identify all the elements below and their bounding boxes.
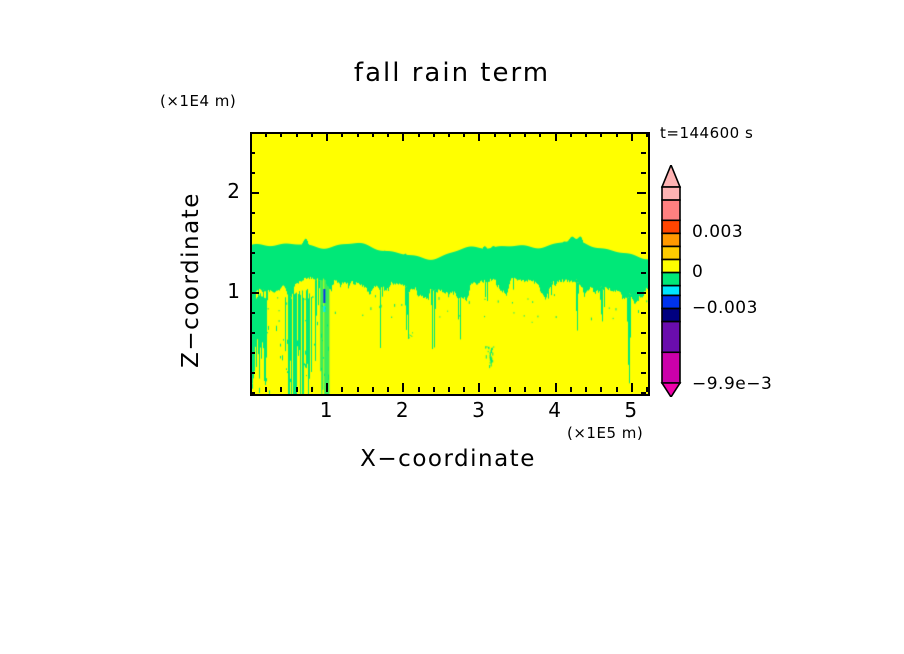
y-tick (250, 252, 255, 254)
y-tick-label: 1 (210, 279, 240, 303)
y-tick-right (641, 212, 646, 214)
x-axis-title: X−coordinate (250, 446, 646, 472)
x-tick (570, 387, 572, 392)
x-tick (585, 387, 587, 392)
x-tick-top (616, 132, 618, 137)
x-tick-label: 2 (387, 398, 417, 422)
y-tick (250, 292, 259, 294)
x-tick (463, 387, 465, 392)
x-axis-unit-label: (×1E5 m) (567, 424, 643, 442)
y-axis-unit-label: (×1E4 m) (160, 92, 236, 110)
x-tick-label: 3 (463, 398, 493, 422)
y-tick-right (637, 192, 646, 194)
x-tick (616, 387, 618, 392)
y-tick (250, 172, 255, 174)
x-tick-top (631, 132, 633, 141)
x-tick (372, 387, 374, 392)
colorbar-tick-label: −9.9e−3 (692, 374, 772, 394)
x-tick-top (387, 132, 389, 137)
x-tick-label: 4 (540, 398, 570, 422)
x-tick-top (280, 132, 282, 137)
y-tick-right (641, 312, 646, 314)
x-tick (280, 387, 282, 392)
heatmap-canvas (252, 134, 648, 394)
y-tick-right (641, 252, 646, 254)
x-tick-top (357, 132, 359, 137)
x-tick-label: 5 (616, 398, 646, 422)
x-tick-top (478, 132, 480, 141)
y-axis-title: Z−coordinate (178, 160, 204, 400)
x-tick-top (372, 132, 374, 137)
x-tick (433, 387, 435, 392)
x-tick-top (555, 132, 557, 141)
y-tick (250, 232, 255, 234)
x-tick (494, 387, 496, 392)
colorbar-tick-label: 0 (692, 262, 703, 282)
x-tick (555, 383, 557, 392)
x-tick-top (296, 132, 298, 137)
x-tick (402, 383, 404, 392)
y-tick-right (641, 332, 646, 334)
x-tick-top (463, 132, 465, 137)
colorbar (659, 165, 683, 397)
x-tick-top (646, 132, 648, 137)
y-tick-right (637, 292, 646, 294)
y-tick-right (641, 152, 646, 154)
figure-canvas: fall rain term (×1E4 m) (×1E5 m) X−coord… (0, 0, 904, 654)
x-tick-top (539, 132, 541, 137)
x-tick (296, 387, 298, 392)
x-tick (600, 387, 602, 392)
y-tick (250, 352, 255, 354)
x-tick-top (509, 132, 511, 137)
y-tick-right (641, 232, 646, 234)
x-tick-top (570, 132, 572, 137)
y-tick-right (641, 392, 646, 394)
x-tick-top (311, 132, 313, 137)
x-tick (341, 387, 343, 392)
x-tick (418, 387, 420, 392)
page-title: fall rain term (0, 58, 904, 88)
y-tick-right (641, 172, 646, 174)
y-tick-right (641, 132, 646, 134)
y-tick (250, 272, 255, 274)
timestamp-annotation: t=144600 s (660, 124, 753, 142)
x-tick-label: 1 (311, 398, 341, 422)
x-tick-top (585, 132, 587, 137)
x-tick (387, 387, 389, 392)
x-tick-top (433, 132, 435, 137)
x-tick (265, 387, 267, 392)
y-tick (250, 152, 255, 154)
x-tick (524, 387, 526, 392)
colorbar-tick-label: −0.003 (692, 298, 758, 318)
x-tick (326, 383, 328, 392)
y-tick (250, 392, 255, 394)
y-tick (250, 212, 255, 214)
x-tick (357, 387, 359, 392)
y-tick (250, 332, 255, 334)
x-tick-top (494, 132, 496, 137)
x-tick-top (326, 132, 328, 141)
x-tick (478, 383, 480, 392)
colorbar-tick-label: 0.003 (692, 222, 743, 242)
x-tick-top (341, 132, 343, 137)
x-tick (539, 387, 541, 392)
y-tick (250, 192, 259, 194)
x-tick-top (402, 132, 404, 141)
x-tick-top (524, 132, 526, 137)
x-tick-top (600, 132, 602, 137)
y-tick-right (641, 352, 646, 354)
y-tick-right (641, 372, 646, 374)
x-tick-top (418, 132, 420, 137)
y-tick-label: 2 (210, 179, 240, 203)
x-tick-top (265, 132, 267, 137)
y-tick (250, 372, 255, 374)
x-tick-top (448, 132, 450, 137)
x-tick (448, 387, 450, 392)
y-tick (250, 132, 255, 134)
y-tick-right (641, 272, 646, 274)
y-tick (250, 312, 255, 314)
plot-area (250, 132, 650, 396)
x-tick (646, 387, 648, 392)
x-tick (631, 383, 633, 392)
x-tick (311, 387, 313, 392)
x-tick (509, 387, 511, 392)
